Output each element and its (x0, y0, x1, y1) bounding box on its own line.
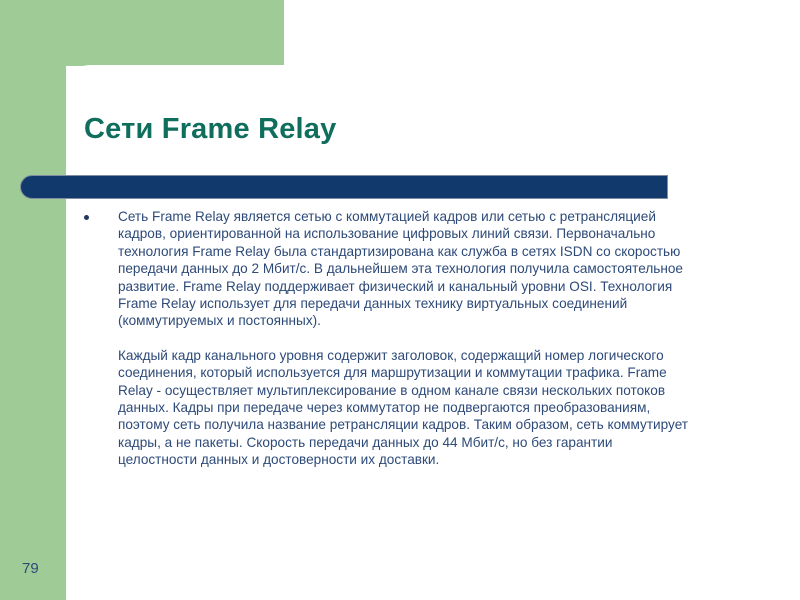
presentation-slide: Сети Frame Relay Сеть Frame Relay являет… (0, 0, 800, 600)
green-left-accent-panel (0, 0, 66, 600)
bullet-dot-icon (84, 215, 89, 220)
title-divider-bar (20, 175, 668, 199)
bullet-list-item: Сеть Frame Relay является сетью с коммут… (80, 208, 694, 330)
green-top-accent-panel (0, 0, 284, 66)
slide-body: Сеть Frame Relay является сетью с коммут… (80, 208, 694, 469)
slide-title: Сети Frame Relay (84, 113, 724, 146)
body-paragraph-1: Сеть Frame Relay является сетью с коммут… (80, 208, 694, 330)
body-paragraph-2: Каждый кадр канального уровня содержит з… (80, 347, 694, 469)
page-number: 79 (22, 561, 39, 576)
